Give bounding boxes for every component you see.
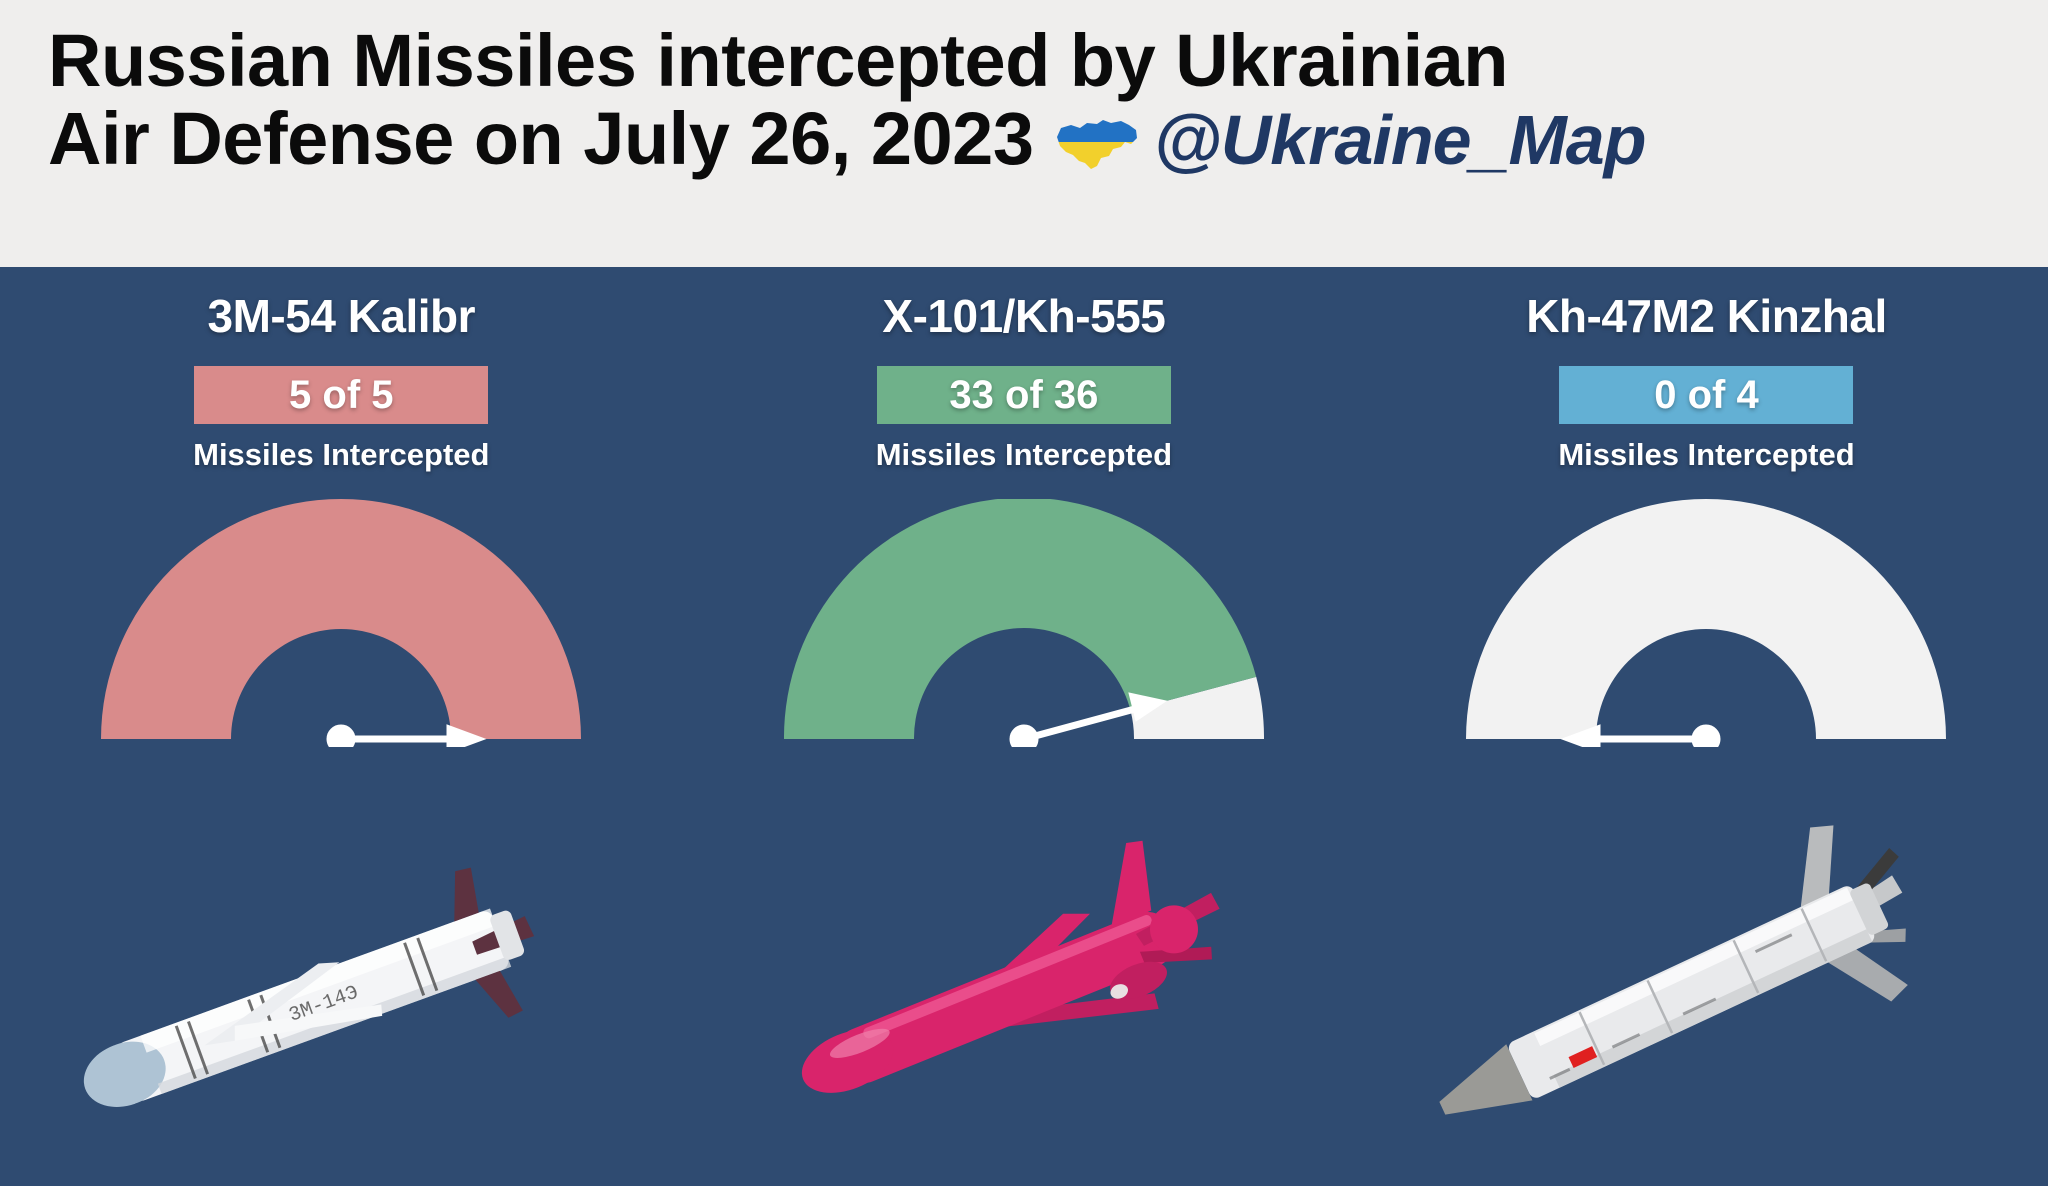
status-badge: 33 of 36 bbox=[877, 366, 1171, 424]
badge-value: 5 of 5 bbox=[289, 373, 393, 418]
ukraine-map-flag-icon bbox=[1051, 109, 1141, 171]
sub-label: Missiles Intercepted bbox=[1365, 437, 2048, 473]
badge-value: 33 of 36 bbox=[949, 373, 1098, 418]
column-kinzhal: Kh-47M2 Kinzhal 0 of 4 Missiles Intercep… bbox=[1365, 267, 2048, 1156]
sub-label: Missiles Intercepted bbox=[0, 437, 683, 473]
missile-image-kinzhal bbox=[1365, 767, 2048, 1156]
page-title-line2-row: Air Defense on July 26, 2023 @Ukraine_Ma… bbox=[48, 100, 2008, 178]
account-handle[interactable]: @Ukraine_Map bbox=[1153, 103, 1645, 177]
header-banner: Russian Missiles intercepted by Ukrainia… bbox=[0, 0, 2048, 267]
missile-name-label: X-101/Kh-555 bbox=[683, 289, 1366, 343]
page-title-line1: Russian Missiles intercepted by Ukrainia… bbox=[48, 22, 2008, 100]
badge-value: 0 of 4 bbox=[1654, 373, 1758, 418]
missile-image-kalibr: 3M-14Э bbox=[0, 767, 683, 1156]
status-badge: 0 of 4 bbox=[1559, 366, 1853, 424]
missile-image-kh101 bbox=[683, 767, 1366, 1156]
gauge-kh101 bbox=[784, 499, 1264, 747]
sub-label: Missiles Intercepted bbox=[683, 437, 1366, 473]
gauge-kinzhal bbox=[1466, 499, 1946, 747]
missile-name-label: Kh-47M2 Kinzhal bbox=[1365, 289, 2048, 343]
column-kalibr: 3M-54 Kalibr 5 of 5 Missiles Intercepted bbox=[0, 267, 683, 1156]
column-kh101: X-101/Kh-555 33 of 36 Missiles Intercept… bbox=[683, 267, 1366, 1156]
missile-name-label: 3M-54 Kalibr bbox=[0, 289, 683, 343]
page-title-line2: Air Defense on July 26, 2023 bbox=[48, 100, 1033, 178]
status-badge: 5 of 5 bbox=[194, 366, 488, 424]
infographic-root: Russian Missiles intercepted by Ukrainia… bbox=[0, 0, 2048, 1156]
gauge-kalibr bbox=[101, 499, 581, 747]
gauge-columns: 3M-54 Kalibr 5 of 5 Missiles Intercepted bbox=[0, 267, 2048, 1156]
